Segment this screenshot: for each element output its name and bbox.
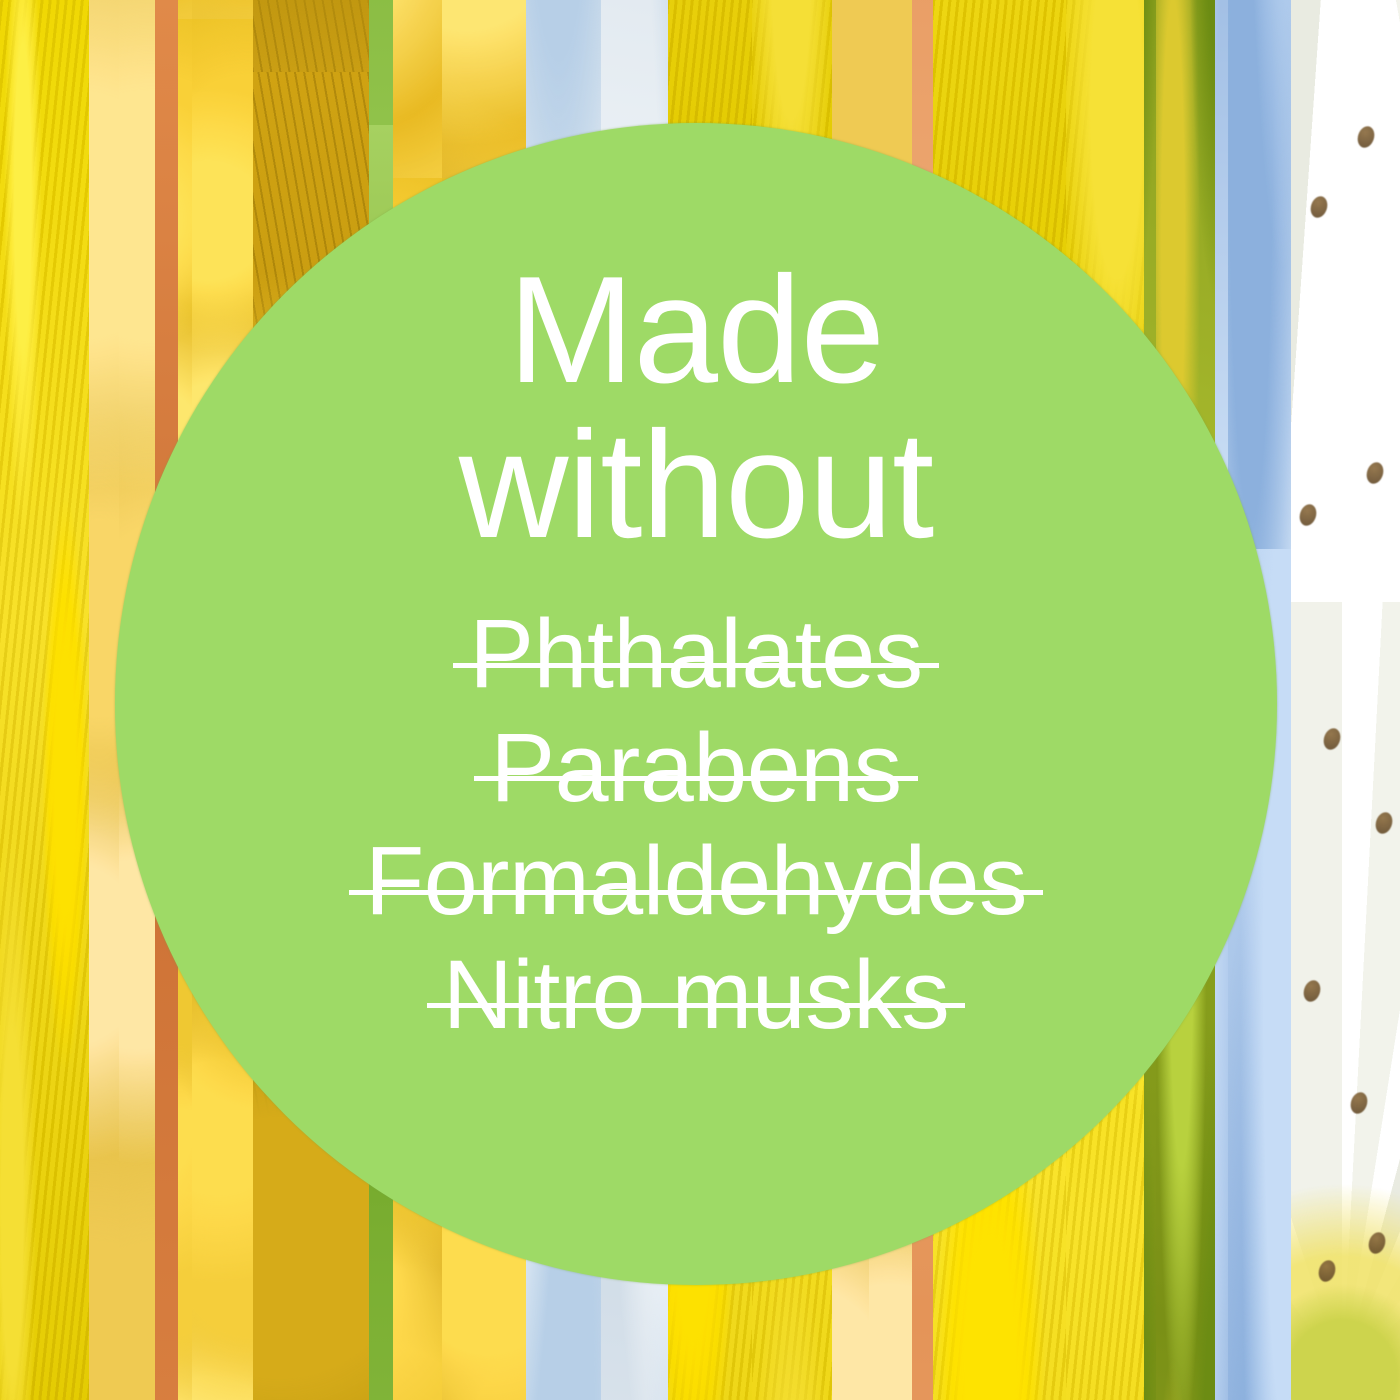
ingredient-label-formaldehydes: Formaldehydes (355, 824, 1037, 937)
strip-photo-fill (1291, 0, 1400, 1400)
photo-strip-mimosa-stamens-bright-yellow (0, 0, 89, 1400)
strip-color-tint (0, 0, 89, 1400)
headline-line-2: without (316, 408, 1076, 563)
avoided-ingredients-list: Phthalates Parabens Formaldehydes Nitro … (115, 597, 1277, 1051)
made-without-badge: Made without Phthalates Parabens Formald… (115, 123, 1277, 1285)
badge-headline: Made without (316, 253, 1076, 563)
ingredient-label-parabens: Parabens (480, 711, 911, 824)
headline-line-1: Made (316, 253, 1076, 408)
avoided-ingredient-item: Formaldehydes (115, 824, 1277, 937)
photo-strip-white-blossom-stamens (1291, 0, 1400, 1400)
avoided-ingredient-item: Phthalates (115, 597, 1277, 710)
ingredient-label-phthalates: Phthalates (459, 597, 932, 710)
avoided-ingredient-item: Parabens (115, 711, 1277, 824)
poster-canvas: Made without Phthalates Parabens Formald… (0, 0, 1400, 1400)
avoided-ingredient-item: Nitro musks (115, 938, 1277, 1051)
ingredient-label-nitro-musks: Nitro musks (433, 938, 960, 1051)
